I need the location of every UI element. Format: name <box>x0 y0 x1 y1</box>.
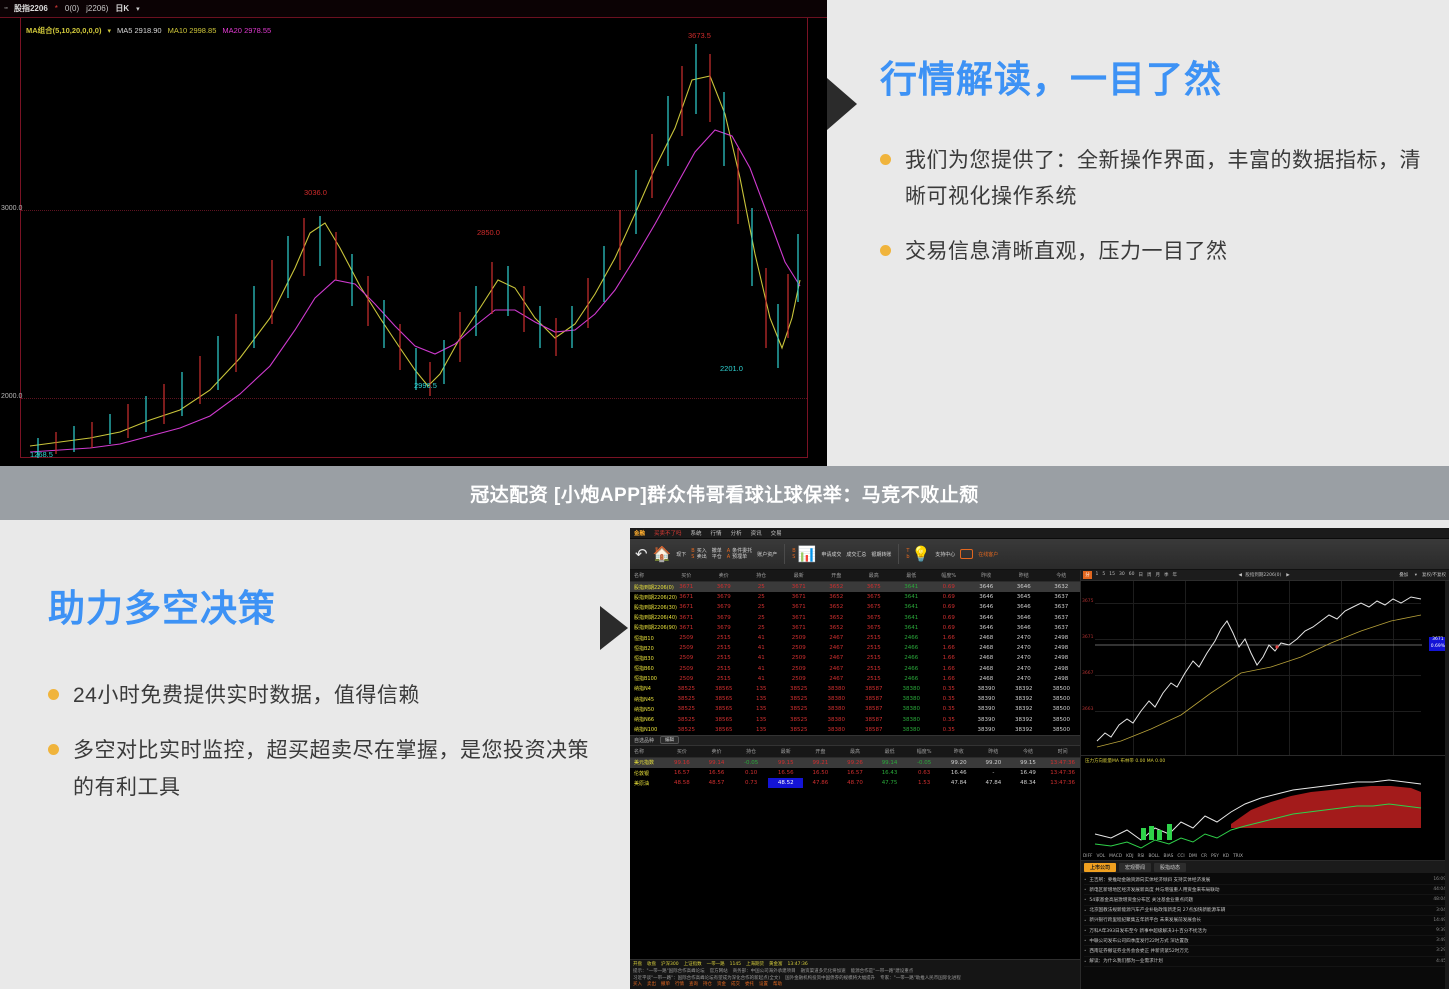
cell-卖价: 3679 <box>705 592 743 602</box>
table-row[interactable]: 恒指B20250925154125092467251524661.6624682… <box>630 643 1080 653</box>
chart-period-2: j2206) <box>86 4 108 13</box>
cell-今结: 2498 <box>1043 664 1081 674</box>
footer-item[interactable]: 卖出 <box>647 982 656 989</box>
cell-最新: 38525 <box>780 684 818 694</box>
overlay-button[interactable]: 叠加 <box>1399 572 1411 578</box>
cell-最新: 38525 <box>780 725 818 735</box>
row-symbol: 股指到期2206(20) <box>630 592 668 602</box>
footer-item[interactable]: 撤单 <box>661 982 670 989</box>
timeframe-active[interactable]: 分 <box>1083 571 1092 579</box>
trading-terminal[interactable]: 金融 买卖不了吗 系统 行情 分析 资讯 交易 ↶ 🏠 现下 BS 买入卖出 撤… <box>630 528 1449 989</box>
timeframe-button[interactable]: 月 <box>1154 572 1162 578</box>
news-list[interactable]: •王吉舸：要推动金融资源向实体经济倾斜 支持实体经济发展16:09•新电区新增地… <box>1081 873 1449 969</box>
cell-最低: 38380 <box>893 684 931 694</box>
bullet-dot-icon: • <box>1084 897 1086 902</box>
footer-item[interactable]: 商务部：中国公司海外承建项目 <box>733 969 796 976</box>
table-row[interactable]: 股指到期2206(0)367136792536713652367536410.6… <box>630 582 1080 593</box>
top-section: ◦◦ 股指2206 * 0(0) j2206) 日K ▾ MA组合(5,10,2… <box>0 0 1449 466</box>
sell-key: S <box>691 554 694 560</box>
timeframe-button[interactable]: 季 <box>1162 572 1170 578</box>
cell-时间: 13:47:36 <box>1045 768 1080 778</box>
cell-昨结: - <box>976 768 1011 778</box>
cell-持仓: 41 <box>743 653 781 663</box>
cell-最高: 3675 <box>855 582 893 593</box>
table-row[interactable]: 恒指B30250925154125092467251524661.6624682… <box>630 653 1080 663</box>
cell-幅度%: 0.69 <box>930 623 968 633</box>
column-header[interactable]: 最低 <box>872 746 907 758</box>
cell-昨结: 2470 <box>1005 653 1043 663</box>
kline-chart-panel[interactable]: ◦◦ 股指2206 * 0(0) j2206) 日K ▾ MA组合(5,10,2… <box>0 0 827 466</box>
news-item[interactable]: •54家基金高层激增资金分布区 关注基金业重点问题48:04 <box>1084 895 1446 905</box>
cell-昨结: 3645 <box>1005 592 1043 602</box>
cell-今结: 38500 <box>1043 704 1081 714</box>
intraday-chart[interactable]: 3675 3671 3667 3663 3671 0.69% <box>1081 581 1449 756</box>
chart-timeframe-selector[interactable]: 日K <box>115 3 129 14</box>
home-icon[interactable]: 🏠 <box>653 545 672 563</box>
price-value: 3671 <box>1431 637 1445 644</box>
cell-幅度%: 0.35 <box>930 725 968 735</box>
news-title[interactable]: 解读：为什么我们都为一业需求计划 <box>1089 958 1433 964</box>
cell-开盘: 38380 <box>818 694 856 704</box>
footer-item[interactable]: 上证指数 <box>684 962 702 969</box>
indicator-tab[interactable]: BIAS <box>1164 854 1174 859</box>
table-row[interactable]: 恒指B10250925154125092467251524661.6624682… <box>630 633 1080 643</box>
footer-item[interactable]: 行情 <box>675 982 684 989</box>
column-header[interactable]: 开盘 <box>818 570 856 582</box>
cond-key-2: A <box>727 554 730 560</box>
indicator-tab[interactable]: DIFF <box>1083 854 1093 859</box>
column-header[interactable]: 开盘 <box>803 746 838 758</box>
cell-最高: 3675 <box>855 613 893 623</box>
footer-item[interactable]: 13:47:36 <box>788 962 808 969</box>
news-item[interactable]: •北京国教法规新能源汽车产业补贴政策新走向 27点加快新能源车辆3:04 <box>1084 906 1446 916</box>
cell-卖价: 48.57 <box>699 778 734 788</box>
timeframe-button[interactable]: 30 <box>1117 572 1126 578</box>
cell-幅度%: 0.69 <box>930 592 968 602</box>
table-row[interactable]: 美原油48.5848.570.7348.5247.8648.7047.751.5… <box>630 778 1080 788</box>
cell-幅度%: 0.69 <box>930 602 968 612</box>
cell-持仓: 25 <box>743 623 781 633</box>
adjust-button[interactable]: 复权/不复权 <box>1420 572 1449 578</box>
cell-最新: 3671 <box>780 613 818 623</box>
cell-开盘: 3652 <box>818 602 856 612</box>
indicator-tab[interactable]: TRIX <box>1233 854 1243 859</box>
toolbar-label: 在线客户 <box>978 551 998 558</box>
cell-持仓: 0.73 <box>734 778 769 788</box>
cell-今结: 2498 <box>1043 653 1081 663</box>
cell-幅度%: 0.35 <box>930 714 968 724</box>
news-title[interactable]: 北京国教法规新能源汽车产业补贴政策新走向 27点加快新能源车辆 <box>1089 907 1433 913</box>
toolbar-button-chart[interactable]: BS 📊 <box>792 545 816 563</box>
column-header[interactable]: 最高 <box>855 570 893 582</box>
cell-最新: 38525 <box>780 704 818 714</box>
timeframe-button[interactable]: 日 <box>1137 572 1145 578</box>
news-title[interactable]: 西南证券撤证券业务会会委正 并新货紧52时万元 <box>1089 948 1433 954</box>
cell-最低: 3641 <box>893 623 931 633</box>
cell-卖价: 99.14 <box>699 757 734 768</box>
footer-row-3: 习近平谈"一带一路"：国际合作高峰论坛有望成为深化合作的新起点(全文)国外金融机… <box>633 976 1077 983</box>
bottom-text-block: 助力多空决策 24小时免费提供实时数据，值得信赖 多空对比实时监控，超买超卖尽在… <box>48 578 608 824</box>
cell-今结: 3637 <box>1043 623 1081 633</box>
cell-最高: 99.26 <box>838 757 873 768</box>
nav-prev-icon[interactable]: ◀ <box>1238 573 1241 578</box>
column-header[interactable]: 名称 <box>630 570 668 582</box>
news-title[interactable]: 新兴银行跨里程纪聚集五年新平台 未来发展前发展会长 <box>1089 917 1430 923</box>
toolbar-button-support[interactable]: 支持中心 <box>935 551 955 558</box>
menu-item-alert[interactable]: 买卖不了吗 <box>654 529 682 537</box>
cell-最高: 38587 <box>855 714 893 724</box>
footer-item[interactable]: 收盘 <box>647 962 656 969</box>
table-row[interactable]: 股指到期2206(30)367136792536713652367536410.… <box>630 602 1080 612</box>
cell-卖价: 3679 <box>705 623 743 633</box>
column-header[interactable]: 昨收 <box>941 746 976 758</box>
cell-昨收: 38390 <box>968 714 1006 724</box>
chevron-down-icon[interactable]: ▾ <box>1413 573 1418 578</box>
window-dots-icon: ◦◦ <box>4 5 7 12</box>
news-item[interactable]: •王吉舸：要推动金融资源向实体经济倾斜 支持实体经济发展16:09 <box>1084 875 1446 885</box>
cell-最高: 3675 <box>855 592 893 602</box>
list-item: 我们为您提供了：全新操作界面，丰富的数据指标，清晰可视化操作系统 <box>880 143 1440 217</box>
cell-时间: 13:47:36 <box>1045 778 1080 788</box>
ma10-value: MA10 2998.85 <box>168 26 217 35</box>
bullet-dot-icon: • <box>1084 938 1086 943</box>
cell-昨结: 38392 <box>1005 684 1043 694</box>
row-symbol: 纳指N45 <box>630 694 668 704</box>
indicator-tab[interactable]: PSY <box>1211 854 1219 859</box>
timeframe-button[interactable]: 1 <box>1094 572 1100 578</box>
cell-卖价: 38565 <box>705 725 743 735</box>
toolbar-button-cancel-close[interactable]: 撤单平仓 <box>712 548 722 561</box>
list-item: 交易信息清晰直观，压力一目了然 <box>880 234 1440 271</box>
toolbar-label: 现下 <box>676 551 686 558</box>
indicator-tab[interactable]: VOL <box>1097 854 1106 859</box>
table-row[interactable]: 纳指N453852538565135385253838038587383800.… <box>630 694 1080 704</box>
cell-持仓: 41 <box>743 643 781 653</box>
column-header[interactable]: 幅度% <box>930 570 968 582</box>
cell-昨结: 38392 <box>1005 714 1043 724</box>
footer-item[interactable]: 设置 <box>759 982 768 989</box>
row-symbol: 纳指N4 <box>630 684 668 694</box>
cell-最新: 2509 <box>780 664 818 674</box>
footer-item[interactable]: 专家："一带一路"助推人民币国际化进程 <box>880 976 961 983</box>
cell-卖价: 2515 <box>705 633 743 643</box>
pointer-arrow-bottom <box>600 606 628 650</box>
annotation-high-3: 2850.0 <box>477 228 500 237</box>
column-header[interactable]: 持仓 <box>734 746 769 758</box>
menu-item-analysis[interactable]: 分析 <box>731 529 742 537</box>
table-row[interactable]: 股指到期2206(20)367136792536713652367536410.… <box>630 592 1080 602</box>
terminal-toolbar[interactable]: ↶ 🏠 现下 BS 买入卖出 撤单平仓 AA 条件委托预埋单 账户资产 BS <box>630 539 1449 570</box>
cell-开盘: 3652 <box>818 613 856 623</box>
close-label: 平仓 <box>712 554 722 560</box>
cell-卖价: 16.56 <box>699 768 734 778</box>
table-row[interactable]: 纳指N663852538565135385253838038587383800.… <box>630 714 1080 724</box>
toolbar-label: 账户资产 <box>757 551 777 558</box>
chevron-down-icon[interactable]: ▾ <box>136 5 140 13</box>
cell-幅度%: -0.05 <box>907 757 942 768</box>
timeframe-bar[interactable]: 分 15153060日周月季年 ◀ 股指到期2206(0) ▶ 叠加 ▾ 复权/… <box>1081 570 1449 581</box>
news-item[interactable]: •新电区新增地区经济发展新高度 共与增强重人用资金来布局联动44:04 <box>1084 885 1446 895</box>
footer-item[interactable]: 能源合作是"一带一路"建设重点 <box>851 969 914 976</box>
footer-item[interactable]: 国外金融机构投资中国债券的规模将大幅提升 <box>785 976 875 983</box>
cell-开盘: 2467 <box>818 653 856 663</box>
footer-item[interactable]: 提示："一带一路"国际合作高峰论坛 <box>633 969 705 976</box>
column-header[interactable]: 买价 <box>665 746 700 758</box>
table-row[interactable]: 纳指N43852538565135385253838038587383800.3… <box>630 684 1080 694</box>
row-symbol: 恒指B20 <box>630 643 668 653</box>
timeframe-button[interactable]: 年 <box>1171 572 1179 578</box>
indicator-label: 压力方向能量MA 布林带 0.00 MA 0.00 <box>1085 758 1165 764</box>
cell-昨收: 2468 <box>968 653 1006 663</box>
toolbar-button-deal[interactable]: 申请成交 <box>821 551 841 558</box>
footer-item[interactable]: 黄金富 <box>769 962 783 969</box>
footer-item[interactable]: 沪深300 <box>661 962 679 969</box>
cell-幅度%: 0.69 <box>930 613 968 623</box>
cell-今结: 16.49 <box>1011 768 1046 778</box>
column-header[interactable]: 卖价 <box>699 746 734 758</box>
indicator-tab[interactable]: MACD <box>1109 854 1122 859</box>
toolbar-label: 支持中心 <box>935 551 955 558</box>
cell-幅度%: 0.63 <box>907 768 942 778</box>
cell-最低: 3641 <box>893 602 931 612</box>
cell-今结: 2498 <box>1043 633 1081 643</box>
footer-item[interactable]: 委托 <box>745 982 754 989</box>
cell-昨结: 38392 <box>1005 704 1043 714</box>
cell-最新: 3671 <box>780 623 818 633</box>
indicator-tabs[interactable]: DIFFVOLMACDKDJRSIBOLLBIASCCIDMICRPSYKDTR… <box>1083 854 1243 859</box>
news-item[interactable]: •万科A年393日发布至今 新事中超级解决3十百分不扰活为9:39 <box>1084 926 1446 936</box>
toolbar-button-buy-sell[interactable]: BS 买入卖出 <box>691 548 706 561</box>
y-axis-label-1: 2000.0 <box>1 393 22 400</box>
indicator-tab[interactable]: BOLL <box>1148 854 1159 859</box>
cell-昨结: 99.20 <box>976 757 1011 768</box>
indicator-tab[interactable]: RSI <box>1137 854 1144 859</box>
news-item[interactable]: •中联公司发布公司四季度发行22时方式 深达置放3:49 <box>1084 936 1446 946</box>
cell-最低: 2466 <box>893 664 931 674</box>
timeframe-button[interactable]: 周 <box>1145 572 1153 578</box>
column-header[interactable]: 最高 <box>838 746 873 758</box>
bullet-text: 24小时免费提供实时数据，值得信赖 <box>73 678 420 715</box>
cell-卖价: 38565 <box>705 704 743 714</box>
cell-昨收: 99.20 <box>941 757 976 768</box>
news-title[interactable]: 王吉舸：要推动金融资源向实体经济倾斜 支持实体经济发展 <box>1089 877 1430 883</box>
toolbar-label: 申请成交 <box>821 551 841 558</box>
cell-昨收: 47.84 <box>941 778 976 788</box>
chart-period-1: 0(0) <box>65 4 79 13</box>
cell-幅度%: 0.35 <box>930 694 968 704</box>
column-header[interactable]: 最新 <box>780 570 818 582</box>
footer-item[interactable]: 融资渠道多元化将加速 <box>801 969 846 976</box>
column-header[interactable]: 幅度% <box>907 746 942 758</box>
column-header[interactable]: 买价 <box>668 570 706 582</box>
table-row[interactable]: 恒指B60250925154125092467251524661.6624682… <box>630 664 1080 674</box>
cell-最低: 38380 <box>893 725 931 735</box>
toolbar-button-bank-transfer[interactable]: 银期转账 <box>871 551 891 558</box>
cell-持仓: 135 <box>743 725 781 735</box>
footer-item[interactable]: 1145 <box>730 962 741 969</box>
news-item[interactable]: •新兴银行跨里程纪聚集五年新平台 未来发展前发展会长14:49 <box>1084 916 1446 926</box>
timeframe-button[interactable]: 5 <box>1101 572 1107 578</box>
indicator-tab[interactable]: KD <box>1223 854 1229 859</box>
menu-item-trade[interactable]: 交易 <box>771 529 782 537</box>
cell-最低: 2466 <box>893 643 931 653</box>
nav-next-icon[interactable]: ▶ <box>1285 573 1291 578</box>
table-row[interactable]: 美元指数99.1699.14-0.0599.1599.2199.2699.14-… <box>630 757 1080 768</box>
news-title[interactable]: 54家基金高层激增资金分布区 关注基金业重点问题 <box>1089 897 1430 903</box>
cell-开盘: 2467 <box>818 674 856 684</box>
cell-昨结: 2470 <box>1005 643 1043 653</box>
footer-item[interactable]: 持仓 <box>703 982 712 989</box>
column-header[interactable]: 今结 <box>1011 746 1046 758</box>
indicator-tab[interactable]: DMI <box>1189 854 1197 859</box>
cell-买价: 99.16 <box>665 757 700 768</box>
menu-item-system[interactable]: 系统 <box>691 529 702 537</box>
indicator-tab[interactable]: CR <box>1201 854 1207 859</box>
column-header[interactable]: 名称 <box>630 746 665 758</box>
column-header[interactable]: 时间 <box>1045 746 1080 758</box>
cell-今结: 48.34 <box>1011 778 1046 788</box>
cell-今结: 3637 <box>1043 602 1081 612</box>
cell-今结: 38500 <box>1043 684 1081 694</box>
bullet-dot-icon: • <box>1084 887 1086 892</box>
chevron-down-icon[interactable]: ▾ <box>107 27 111 35</box>
terminal-body: 名称买价卖价持仓最新开盘最高最低幅度%昨收昨结今结 股指到期2206(0)367… <box>630 570 1449 989</box>
quote-table-main[interactable]: 名称买价卖价持仓最新开盘最高最低幅度%昨收昨结今结 股指到期2206(0)367… <box>630 570 1080 735</box>
toolbar-button-current[interactable]: 现下 <box>676 551 686 558</box>
news-title[interactable]: 新电区新增地区经济发展新高度 共与增强重人用资金来布局联动 <box>1089 887 1430 893</box>
watchlist-label: 自选品种 <box>634 737 654 744</box>
bullet-text: 交易信息清晰直观，压力一目了然 <box>905 234 1228 271</box>
table-row[interactable]: 恒指B100250925154125092467251524661.662468… <box>630 674 1080 684</box>
preset-label: 预埋单 <box>732 554 752 560</box>
screen-icon[interactable] <box>960 549 973 559</box>
cell-最高: 3675 <box>855 623 893 633</box>
cell-持仓: 135 <box>743 704 781 714</box>
cell-最低: 99.14 <box>872 757 907 768</box>
table-row[interactable]: 纳指N503852538565135385253838038587383800.… <box>630 704 1080 714</box>
cell-持仓: 135 <box>743 684 781 694</box>
cell-持仓: 41 <box>743 633 781 643</box>
menu-item-quotes[interactable]: 行情 <box>711 529 722 537</box>
row-symbol: 恒指B30 <box>630 653 668 663</box>
cell-最低: 2466 <box>893 674 931 684</box>
cell-昨结: 3646 <box>1005 623 1043 633</box>
indicator-tab[interactable]: CCI <box>1177 854 1184 859</box>
footer-item[interactable]: 买入 <box>633 982 642 989</box>
column-header[interactable]: 持仓 <box>743 570 781 582</box>
footer-item[interactable]: 成交 <box>731 982 740 989</box>
menu-item-news[interactable]: 资讯 <box>751 529 762 537</box>
news-title[interactable]: 万科A年393日发布至今 新事中超级解决3十百分不扰活为 <box>1089 928 1433 934</box>
footer-item[interactable]: 官方网站 <box>710 969 728 976</box>
quote-table-watchlist[interactable]: 名称买价卖价持仓最新开盘最高最低幅度%昨收昨结今结时间 美元指数99.1699.… <box>630 746 1080 789</box>
cell-幅度%: 1.66 <box>930 643 968 653</box>
bullet-dot-icon <box>880 245 891 256</box>
footer-item[interactable]: 查询 <box>689 982 698 989</box>
cell-买价: 38525 <box>668 714 706 724</box>
table-row[interactable]: 纳指N1003852538565135385253838038587383800… <box>630 725 1080 735</box>
scrollbar[interactable] <box>1445 581 1449 989</box>
table-row[interactable]: 股指到期2206(40)367136792536713652367536410.… <box>630 613 1080 623</box>
column-header[interactable]: 最低 <box>893 570 931 582</box>
indicator-panel[interactable]: 压力方向能量MA 布林带 0.00 MA 0.00 DIFFVOLMACDKDJ… <box>1081 756 1449 861</box>
cell-昨结: 3646 <box>1005 602 1043 612</box>
menu-item-finance[interactable]: 金融 <box>634 529 645 537</box>
ma-combo-label[interactable]: MA组合(5,10,20,0,0,0) <box>26 25 101 36</box>
cell-昨结: 38392 <box>1005 694 1043 704</box>
row-symbol: 恒指B100 <box>630 674 668 684</box>
chart-and-news-panel[interactable]: 分 15153060日周月季年 ◀ 股指到期2206(0) ▶ 叠加 ▾ 复权/… <box>1080 570 1449 989</box>
divider <box>784 544 785 564</box>
indicator-tab[interactable]: KDJ <box>1126 854 1133 859</box>
undo-icon[interactable]: ↶ <box>635 545 648 563</box>
annotation-high-1: 3673.5 <box>688 31 711 40</box>
terminal-menubar[interactable]: 金融 买卖不了吗 系统 行情 分析 资讯 交易 <box>630 528 1449 539</box>
column-header[interactable]: 最新 <box>768 746 803 758</box>
column-header[interactable]: 卖价 <box>705 570 743 582</box>
cell-买价: 2509 <box>668 633 706 643</box>
y-axis-label-0: 3000.0 <box>1 205 22 212</box>
pointer-arrow-top <box>827 78 857 130</box>
quote-list-panel[interactable]: 名称买价卖价持仓最新开盘最高最低幅度%昨收昨结今结 股指到期2206(0)367… <box>630 570 1080 989</box>
toolbar-button-tips[interactable]: Tb 💡 <box>906 545 930 563</box>
footer-item[interactable]: 帮助 <box>773 982 782 989</box>
news-item[interactable]: •西南证券撤证券业务会会委正 并新货紧52时万元3:29 <box>1084 946 1446 956</box>
column-header[interactable]: 昨收 <box>968 570 1006 582</box>
toolbar-button-assets[interactable]: 账户资产 <box>757 551 777 558</box>
column-header[interactable]: 今结 <box>1043 570 1081 582</box>
timeframe-button[interactable]: 60 <box>1127 572 1136 578</box>
cell-最新: 2509 <box>780 674 818 684</box>
intraday-series-svg <box>1081 581 1449 756</box>
toolbar-button-conditional[interactable]: AA 条件委托预埋单 <box>727 548 752 561</box>
cell-开盘: 2467 <box>818 633 856 643</box>
list-item: 多空对比实时监控，超买超卖尽在掌握，是您投资决策的有利工具 <box>48 733 608 807</box>
footer-item[interactable]: 资金 <box>717 982 726 989</box>
watchlist-tabs[interactable]: 自选品种 编辑 <box>630 735 1080 746</box>
news-title[interactable]: 中联公司发布公司四季度发行22时方式 深达置放 <box>1089 938 1433 944</box>
cell-卖价: 2515 <box>705 674 743 684</box>
column-header[interactable]: 昨结 <box>1005 570 1043 582</box>
toolbar-button-deal-summary[interactable]: 成交汇总 <box>846 551 866 558</box>
toolbar-button-online-service[interactable]: 在线客户 <box>978 551 998 558</box>
cell-昨结: 38392 <box>1005 725 1043 735</box>
column-header[interactable]: 昨结 <box>976 746 1011 758</box>
table-row[interactable]: 股指到期2206(90)367136792536713652367536410.… <box>630 623 1080 633</box>
footer-item[interactable]: 一带一路 <box>707 962 725 969</box>
footer-row-2: 提示："一带一路"国际合作高峰论坛官方网站商务部：中国公司海外承建项目融资渠道多… <box>633 969 1077 976</box>
timeframe-button[interactable]: 15 <box>1108 572 1117 578</box>
cell-幅度%: 1.66 <box>930 633 968 643</box>
cell-买价: 38525 <box>668 725 706 735</box>
table-row[interactable]: 伦敦银16.5716.560.1016.5616.5016.5716.430.6… <box>630 768 1080 778</box>
cell-昨收: 16.46 <box>941 768 976 778</box>
cell-买价: 48.58 <box>665 778 700 788</box>
footer-item[interactable]: 开盘 <box>633 962 642 969</box>
cell-幅度%: 0.35 <box>930 684 968 694</box>
table-header-row: 名称买价卖价持仓最新开盘最高最低幅度%昨收昨结今结时间 <box>630 746 1080 758</box>
bullet-dot-icon <box>48 744 59 755</box>
cell-最新: 2509 <box>780 643 818 653</box>
footer-item[interactable]: 上海期货 <box>746 962 764 969</box>
cell-最低: 2466 <box>893 633 931 643</box>
edit-button[interactable]: 编辑 <box>660 736 679 744</box>
cell-最低: 47.75 <box>872 778 907 788</box>
sell-label: 卖出 <box>697 554 707 560</box>
cell-昨收: 2468 <box>968 643 1006 653</box>
news-item[interactable]: •解读：为什么我们都为一业需求计划4:45 <box>1084 957 1446 967</box>
cell-昨收: 3646 <box>968 582 1006 593</box>
